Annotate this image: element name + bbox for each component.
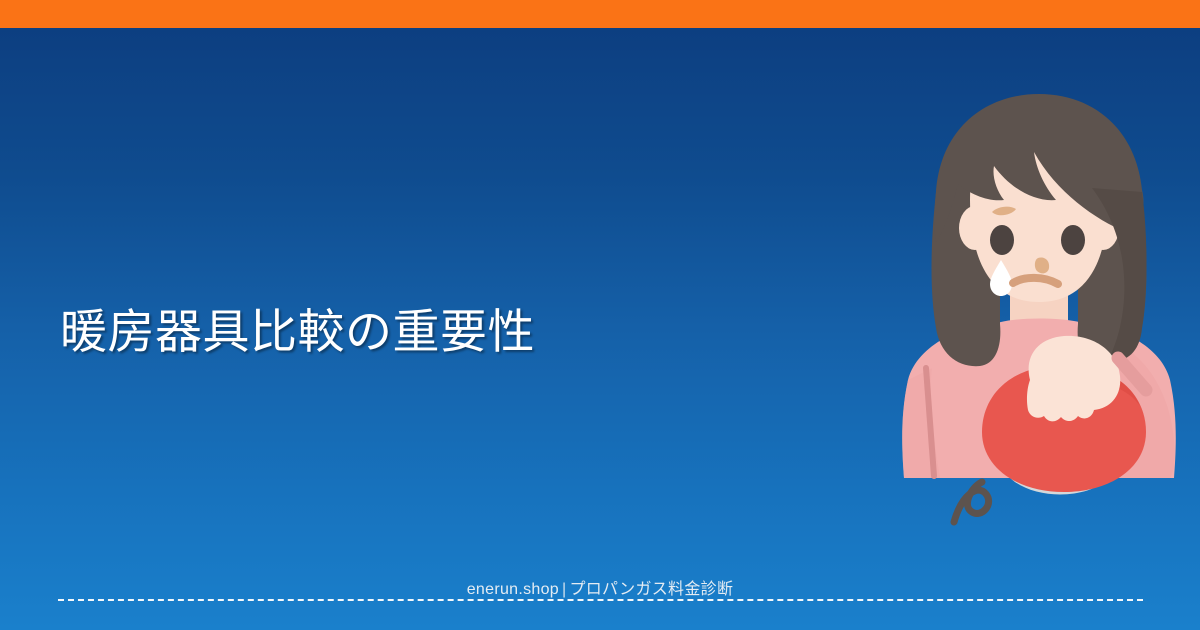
slide-canvas: 暖房器具比較の重要性 — [0, 0, 1200, 630]
footer-separator: | — [559, 581, 569, 598]
steam-squiggle-icon — [954, 482, 989, 522]
footer-tagline: プロパンガス料金診断 — [569, 581, 733, 598]
footer: enerun.shop|プロパンガス料金診断 — [0, 575, 1200, 599]
crying-woman-illustration — [878, 80, 1200, 550]
top-accent-bar — [0, 0, 1200, 28]
footer-divider — [58, 599, 1143, 601]
footer-site-name: enerun.shop — [467, 581, 559, 598]
right-eye — [1061, 225, 1085, 255]
page-title: 暖房器具比較の重要性 — [60, 302, 880, 362]
left-eye — [990, 225, 1014, 255]
